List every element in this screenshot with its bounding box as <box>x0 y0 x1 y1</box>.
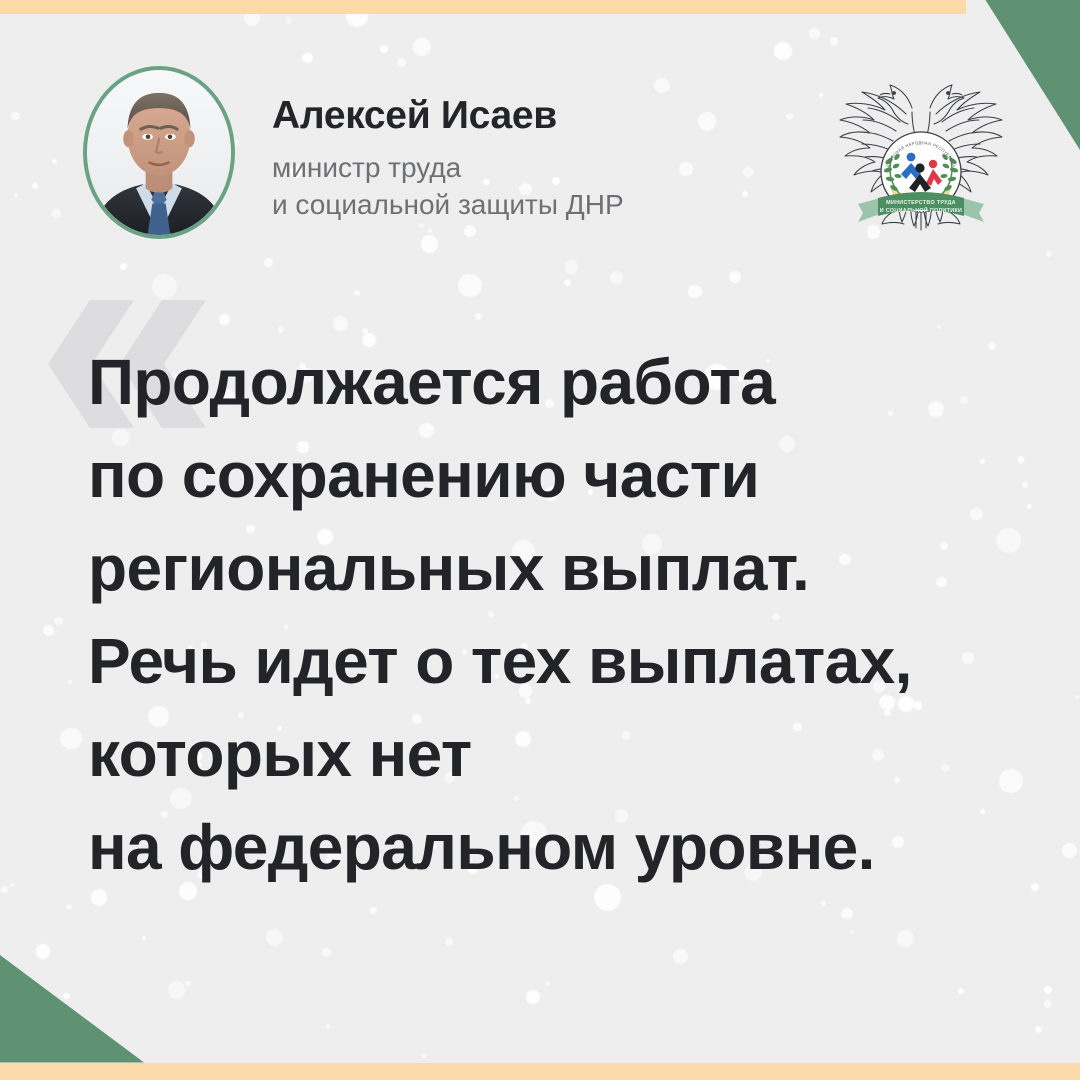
texture-dot <box>445 938 453 946</box>
texture-dot <box>897 930 914 947</box>
texture-dot <box>54 617 62 625</box>
texture-dot <box>1044 1000 1052 1008</box>
texture-dot <box>354 290 360 296</box>
texture-dot <box>475 313 481 319</box>
texture-dot <box>362 328 368 334</box>
texture-dot <box>142 936 146 940</box>
texture-dot <box>1062 843 1077 858</box>
texture-dot <box>68 680 72 684</box>
texture-dot <box>850 930 854 934</box>
peach-strip-bottom <box>0 1063 1080 1080</box>
texture-dot <box>333 316 348 331</box>
emblem-ribbon-line-1: МИНИСТЕРСТВО ТРУДА <box>886 200 956 206</box>
quote-text: Продолжается работа по сохранению части … <box>88 336 1038 894</box>
avatar <box>83 66 235 239</box>
texture-dot <box>564 279 571 286</box>
texture-dot <box>610 271 623 284</box>
texture-dot <box>673 949 688 964</box>
texture-dot <box>1044 986 1052 994</box>
double-headed-eagle-emblem-icon: ДОНЕЦКАЯ НАРОДНАЯ РЕСПУБЛИКА ДОНЕЦКАЯ НА… <box>828 52 1014 240</box>
emblem-ribbon-line-2: И СОЦИАЛЬНОЙ ПОЛИТИКИ <box>880 206 962 214</box>
texture-dot <box>322 948 331 957</box>
speaker-header: Алексей Исаев министр труда и социальной… <box>0 0 1080 270</box>
texture-dot <box>821 901 827 907</box>
texture-dot <box>266 929 283 946</box>
texture-dot <box>526 990 540 1004</box>
texture-dot <box>326 1024 331 1029</box>
texture-dot <box>688 285 702 299</box>
texture-dot <box>937 325 941 329</box>
texture-dot <box>1 886 8 893</box>
texture-dot <box>1075 695 1080 700</box>
speaker-role-line-1: министр труда <box>272 150 624 187</box>
texture-dot <box>185 981 190 986</box>
quote-line: региональных выплат. <box>88 522 1038 615</box>
texture-dot <box>841 908 853 920</box>
speaker-role-line-2: и социальной защиты ДНР <box>272 187 624 224</box>
texture-dot <box>422 1054 426 1058</box>
texture-dot <box>370 907 377 914</box>
texture-dot <box>1035 1026 1042 1033</box>
speaker-info: Алексей Исаев министр труда и социальной… <box>272 96 624 224</box>
texture-dot <box>458 274 481 297</box>
texture-dot <box>545 981 550 986</box>
texture-dot <box>60 728 81 749</box>
portrait-photo-icon <box>87 70 231 235</box>
speaker-role: министр труда и социальной защиты ДНР <box>272 150 624 224</box>
quote-line: Продолжается работа <box>88 336 1038 429</box>
quote-line: которых нет <box>88 708 1038 801</box>
texture-dot <box>278 326 284 332</box>
texture-dot <box>10 883 14 887</box>
quote-line: Речь идет о тех выплатах, <box>88 615 1038 708</box>
texture-dot <box>729 271 741 283</box>
texture-dot <box>168 981 186 999</box>
texture-dot <box>958 988 964 994</box>
quote-line: по сохранению части <box>88 429 1038 522</box>
quote-line: на федеральном уровне. <box>88 801 1038 894</box>
green-triangle-bottom-left <box>0 955 150 1080</box>
quote-card: Алексей Исаев министр труда и социальной… <box>0 0 1080 1080</box>
texture-dot <box>66 904 72 910</box>
texture-dot <box>152 274 177 299</box>
texture-dot <box>43 625 54 636</box>
page-title: Алексей Исаев <box>272 96 624 137</box>
